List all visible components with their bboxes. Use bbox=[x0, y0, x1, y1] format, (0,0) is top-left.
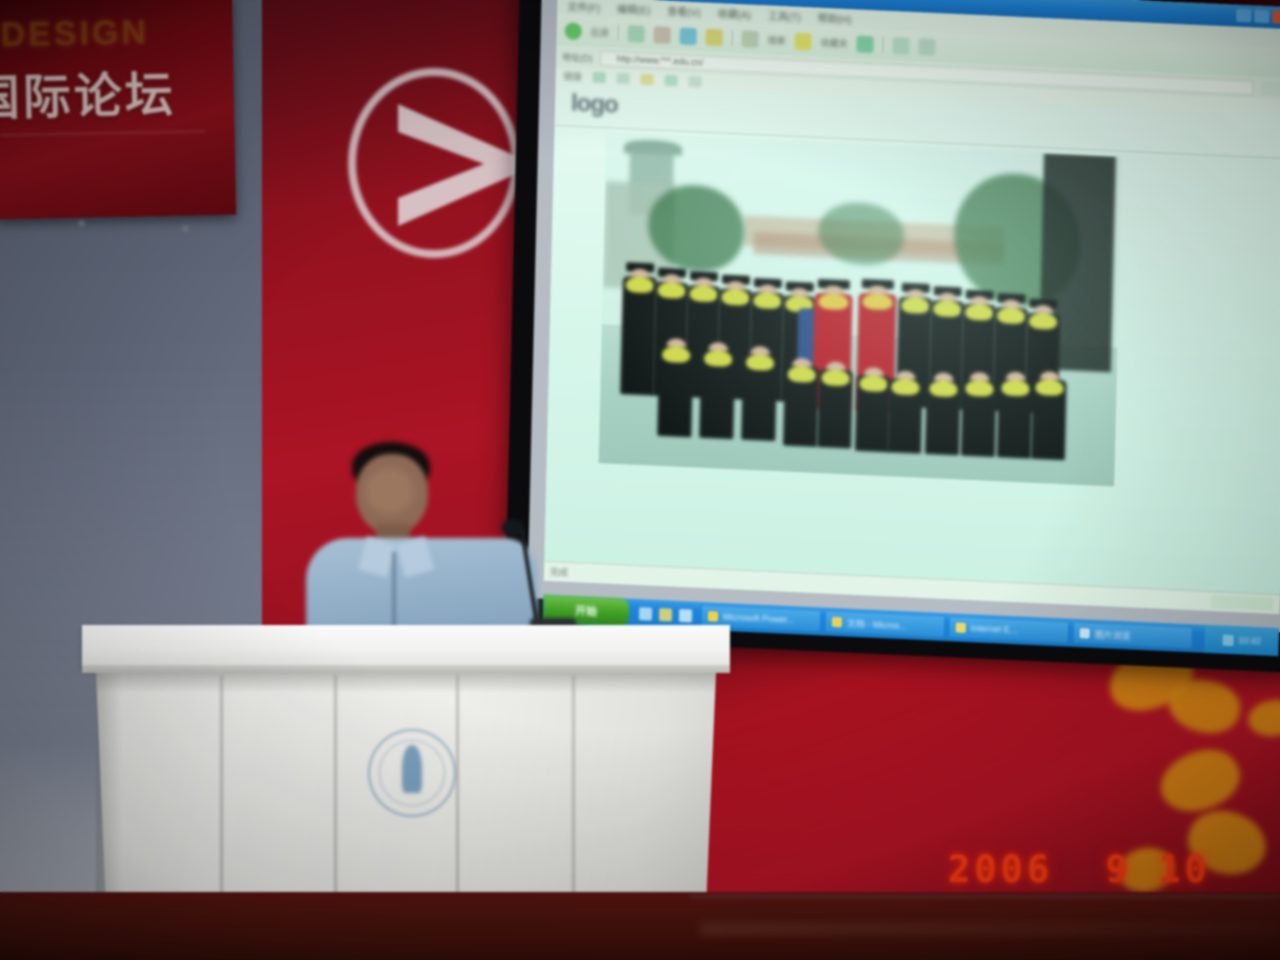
stop-icon[interactable] bbox=[654, 26, 671, 44]
taskbar-button-2[interactable]: 文档 - Micros... bbox=[826, 612, 944, 637]
chevron-right-icon bbox=[392, 98, 522, 230]
toolbar-separator-2 bbox=[731, 30, 732, 46]
status-text: 完成 bbox=[550, 565, 568, 579]
browser-page-content: logo bbox=[544, 83, 1280, 594]
quicklaunch-media-icon[interactable] bbox=[679, 608, 692, 622]
speaker-face bbox=[366, 468, 414, 514]
task-label-3: Internet E... bbox=[971, 623, 1018, 635]
podium-top-shadow bbox=[96, 673, 716, 693]
banner-design-text: DESIGN bbox=[0, 12, 231, 55]
favorites-label: 收藏夹 bbox=[820, 35, 847, 49]
taskbar-clock: 10:42 bbox=[1238, 635, 1261, 646]
links-label: 链接 bbox=[564, 69, 582, 83]
history-icon[interactable] bbox=[856, 35, 873, 53]
projection-screen-canvas: Internet Explorer 文件(F) 编辑(E) 查看(V) 收藏(A… bbox=[544, 0, 1280, 614]
status-zone bbox=[1211, 595, 1273, 611]
task-label-1: Microsoft Power... bbox=[723, 612, 795, 625]
graduate-front-9 bbox=[961, 366, 997, 458]
menu-item-favorites[interactable]: 收藏(A) bbox=[718, 5, 752, 22]
task-icon-4 bbox=[1080, 628, 1090, 638]
graduate-front-5 bbox=[817, 355, 853, 449]
close-icon[interactable] bbox=[1272, 10, 1280, 24]
system-tray: 10:42 bbox=[1204, 625, 1279, 656]
banner-bolt-right bbox=[182, 225, 189, 232]
tray-volume-icon[interactable] bbox=[1222, 634, 1233, 645]
university-seal-figure bbox=[402, 745, 422, 793]
address-label: 地址(D) bbox=[562, 50, 593, 64]
maximize-icon[interactable] bbox=[1254, 10, 1269, 24]
forum-banner: DESIGN 国际论坛 bbox=[0, 0, 236, 219]
link-chip-4[interactable] bbox=[665, 74, 678, 86]
menu-item-file[interactable]: 文件(F) bbox=[567, 0, 600, 15]
graduate-front-8 bbox=[925, 366, 961, 456]
banner-divider bbox=[1, 130, 206, 136]
taskbar-button-4[interactable]: 图片浏览 bbox=[1073, 623, 1191, 648]
stage-floor-reflection bbox=[700, 922, 1280, 936]
back-label: 后退 bbox=[591, 25, 609, 39]
favorites-icon[interactable] bbox=[794, 32, 811, 50]
graduate-front-1 bbox=[657, 332, 693, 438]
podium-top-surface bbox=[82, 625, 730, 669]
quicklaunch-desktop-icon[interactable] bbox=[639, 607, 652, 621]
home-icon[interactable] bbox=[705, 28, 722, 46]
task-icon-2 bbox=[832, 617, 842, 627]
mail-icon[interactable] bbox=[892, 37, 909, 55]
quick-launch-bar bbox=[629, 606, 702, 622]
photograph-scene: DESIGN 国际论坛 Internet Explorer 文件(F) 编辑(E… bbox=[0, 0, 1280, 960]
go-button[interactable] bbox=[1260, 80, 1280, 96]
projection-screen-frame: Internet Explorer 文件(F) 编辑(E) 查看(V) 收藏(A… bbox=[504, 0, 1280, 673]
link-chip-2[interactable] bbox=[617, 72, 630, 84]
menu-item-edit[interactable]: 编辑(E) bbox=[617, 1, 651, 18]
menu-item-help[interactable]: 帮助(H) bbox=[818, 10, 852, 27]
graduate-front-4 bbox=[783, 352, 819, 448]
graduate-front-6 bbox=[855, 361, 891, 453]
menu-item-tools[interactable]: 工具(T) bbox=[768, 7, 801, 23]
graduate-front-3 bbox=[741, 340, 777, 442]
toolbar-separator-3 bbox=[882, 37, 883, 53]
graduate-front-2 bbox=[699, 336, 735, 440]
search-icon[interactable] bbox=[741, 30, 758, 48]
menu-item-view[interactable]: 查看(V) bbox=[667, 3, 701, 20]
window-controls bbox=[1236, 9, 1280, 24]
banner-bolt-left bbox=[78, 220, 85, 227]
camera-date-stamp: 2006 9 10 bbox=[948, 848, 1211, 891]
task-label-2: 文档 - Micros... bbox=[847, 616, 907, 632]
task-icon-1 bbox=[708, 611, 718, 621]
link-chip-1[interactable] bbox=[593, 71, 606, 83]
task-icon-3 bbox=[956, 622, 966, 632]
search-label: 搜索 bbox=[767, 33, 785, 47]
toolbar-separator-1 bbox=[618, 25, 619, 41]
graduate-front-7 bbox=[887, 364, 923, 454]
task-label-4: 图片浏览 bbox=[1095, 627, 1131, 642]
graduate-front-11 bbox=[1031, 365, 1067, 461]
link-chip-3[interactable] bbox=[641, 73, 654, 85]
minimize-icon[interactable] bbox=[1236, 9, 1251, 23]
graduation-photo bbox=[599, 133, 1122, 486]
taskbar-button-3[interactable]: Internet E... bbox=[950, 617, 1068, 642]
back-icon[interactable] bbox=[565, 22, 582, 40]
print-icon[interactable] bbox=[918, 38, 935, 56]
page-logo: logo bbox=[571, 90, 664, 120]
quicklaunch-browser-icon[interactable] bbox=[659, 607, 672, 621]
graduate-front-10 bbox=[997, 365, 1033, 459]
refresh-icon[interactable] bbox=[680, 27, 697, 45]
link-chip-5[interactable] bbox=[689, 75, 702, 87]
banner-chinese-text: 国际论坛 bbox=[0, 54, 222, 129]
forward-icon[interactable] bbox=[628, 25, 645, 43]
stage-floor-edge bbox=[690, 895, 1280, 898]
podium-top-edge bbox=[82, 665, 730, 673]
